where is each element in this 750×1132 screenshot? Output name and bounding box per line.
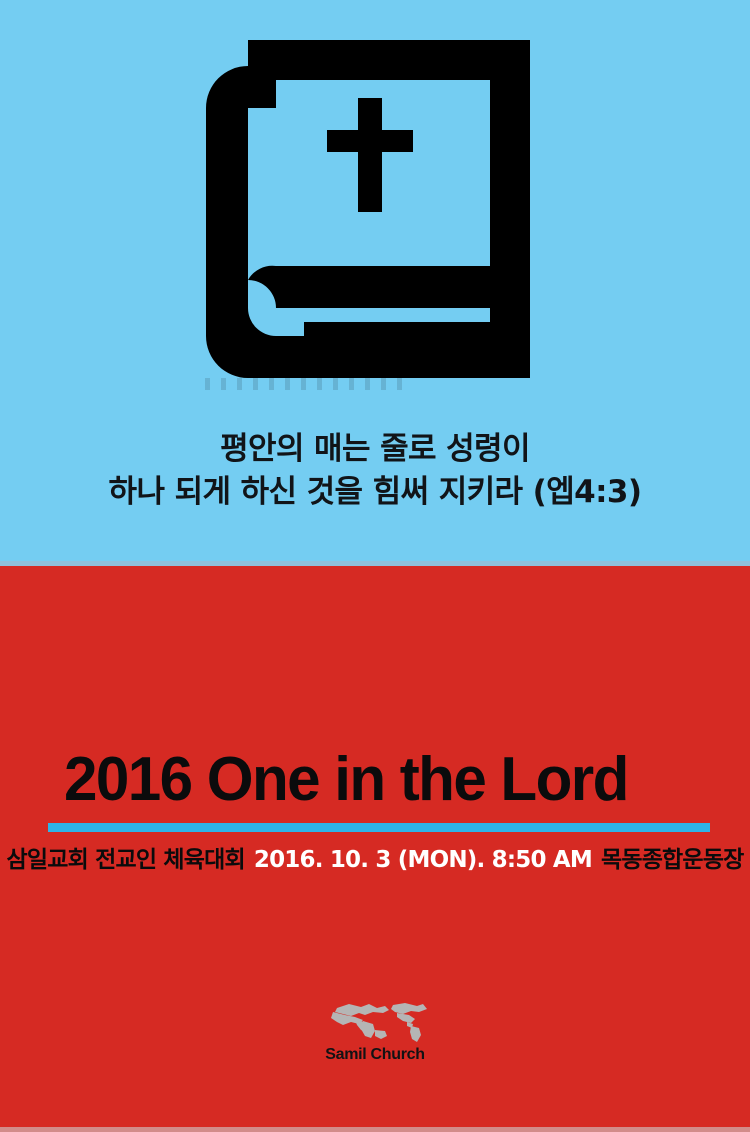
event-meta-line: 삼일교회 전교인 체육대회2016. 10. 3 (MON). 8:50 AM목… (0, 844, 750, 876)
event-venue: 목동종합운동장 (601, 847, 744, 873)
poster-bottom-edge (0, 1127, 750, 1132)
brand-name: Samil Church (0, 1046, 750, 1064)
title-underline-rule (48, 823, 710, 832)
icon-artifact-strip (205, 378, 405, 390)
verse-line-1: 평안의 매는 줄로 성령이 (0, 428, 750, 471)
event-name: 삼일교회 전교인 체육대회 (7, 847, 245, 873)
verse-line-2: 하나 되게 하신 것을 힘써 지키라 (엡4:3) (0, 471, 750, 514)
scripture-verse: 평안의 매는 줄로 성령이 하나 되게 하신 것을 힘써 지키라 (엡4:3) (0, 428, 750, 514)
event-poster: 평안의 매는 줄로 성령이 하나 되게 하신 것을 힘써 지키라 (엡4:3) … (0, 0, 750, 1132)
bible-with-cross-icon (196, 26, 544, 388)
brand-logo: Samil Church (0, 1000, 750, 1064)
event-title: 2016 One in the Lord (64, 745, 685, 815)
event-datetime: 2016. 10. 3 (MON). 8:50 AM (254, 847, 592, 873)
world-map-icon (315, 1000, 435, 1044)
